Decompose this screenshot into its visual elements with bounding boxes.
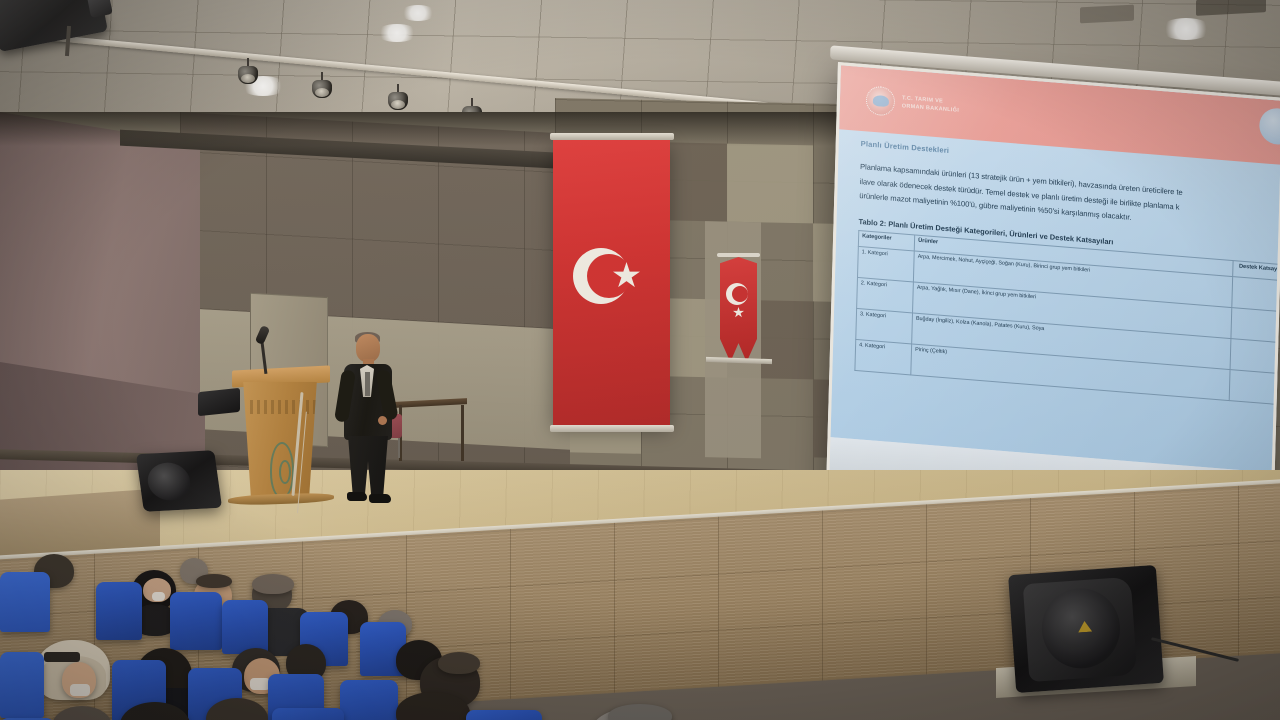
flag-rod-top xyxy=(550,133,674,140)
pennant-bar xyxy=(717,253,760,257)
face-mask xyxy=(70,684,90,696)
seat xyxy=(0,572,50,632)
spotlight-fixture-icon xyxy=(388,84,408,110)
cell-coefficient: 1 xyxy=(1230,338,1280,373)
spotlight-fixture-icon xyxy=(312,72,332,98)
ministry-logo: T.C. TARIM VE ORMAN BAKANLIĞI xyxy=(866,85,960,121)
lectern-carving xyxy=(250,400,326,414)
side-table xyxy=(395,400,467,466)
cell-coefficient: 2 xyxy=(1229,369,1280,404)
face-mask xyxy=(250,678,270,690)
audience-hair xyxy=(438,652,480,674)
ministry-name: T.C. TARIM VE ORMAN BAKANLIĞI xyxy=(902,95,960,116)
seat xyxy=(0,652,44,718)
presenter-head xyxy=(356,334,380,362)
ceiling-lamp-glow xyxy=(1160,18,1212,40)
seat xyxy=(340,680,398,720)
cell-category: 3. Kategori xyxy=(856,308,913,343)
stage-monitor-speaker xyxy=(136,450,222,512)
audience-member xyxy=(52,706,112,720)
audience-hair xyxy=(252,574,294,594)
conference-hall-photo: T.C. TARIM VE ORMAN BAKANLIĞI Planlı Üre… xyxy=(0,0,1280,720)
presenter-trousers xyxy=(348,436,388,496)
presenter-hand xyxy=(378,416,387,425)
screen-surface: T.C. TARIM VE ORMAN BAKANLIĞI Planlı Üre… xyxy=(826,62,1280,528)
support-categories-table: Kategoriler Ürünler Destek Katsayısı 1. … xyxy=(854,230,1280,405)
turkish-pennant-small xyxy=(720,257,757,362)
seat xyxy=(96,582,142,640)
seat xyxy=(272,708,344,720)
pa-speaker xyxy=(1008,565,1164,693)
audience-hair xyxy=(196,574,232,588)
cell-category: 2. Kategori xyxy=(857,277,914,312)
seat xyxy=(222,600,268,654)
presenter-tie xyxy=(365,372,370,396)
headband xyxy=(44,652,80,662)
presenter-shoe xyxy=(347,492,367,501)
seat xyxy=(466,710,542,720)
ministry-seal-icon xyxy=(866,85,896,116)
lectern-body xyxy=(240,382,320,502)
spotlight-fixture-icon xyxy=(238,58,258,84)
cell-category: 1. Kategori xyxy=(857,246,914,281)
spotlight-glow xyxy=(376,24,418,42)
crescent-icon xyxy=(726,283,748,305)
turkish-flag-large xyxy=(553,140,670,425)
cell-category: 4. Kategori xyxy=(855,339,912,374)
spotlight-glow xyxy=(400,5,436,21)
cell-coefficient: 1 xyxy=(1232,276,1280,311)
audience-hair xyxy=(608,704,672,720)
projection-screen: T.C. TARIM VE ORMAN BAKANLIĞI Planlı Üre… xyxy=(826,62,1280,528)
presenter xyxy=(336,334,398,506)
slide-body: Planlı Üretim Destekleri Planlama kapsam… xyxy=(854,139,1274,404)
lectern xyxy=(232,368,330,500)
face-mask xyxy=(152,592,165,601)
lectern-emblem-icon xyxy=(270,442,294,498)
presentation-slide: T.C. TARIM VE ORMAN BAKANLIĞI Planlı Üre… xyxy=(831,65,1280,472)
audience-area xyxy=(0,548,760,720)
stage-equipment-box xyxy=(198,388,240,416)
presenter-shoe xyxy=(369,494,391,503)
header-circle-decoration xyxy=(1259,107,1280,146)
cell-coefficient: 1 xyxy=(1231,307,1280,342)
seat xyxy=(170,592,222,650)
flag-rod-bottom xyxy=(550,425,674,432)
